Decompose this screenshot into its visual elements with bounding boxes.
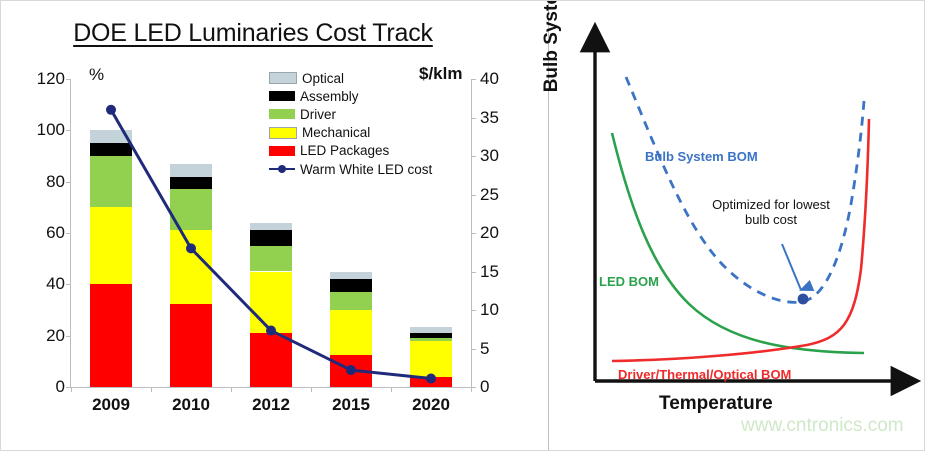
x-axis-tick-label-2010: 2010 <box>172 395 210 415</box>
y-axis-left-tick-label: 20 <box>46 326 65 346</box>
legend-label: Driver <box>300 107 336 122</box>
warm-white-led-cost-marker-2009 <box>106 105 116 115</box>
y-axis-left-tick-label: 100 <box>37 120 65 140</box>
legend-label: Mechanical <box>302 125 370 140</box>
callout-arrow <box>782 244 801 290</box>
legend-line-marker-icon <box>269 164 295 174</box>
y-axis-right-tickmark <box>471 195 476 196</box>
y-axis-left-tick-label: 60 <box>46 223 65 243</box>
y-axis-right-tickmark <box>471 156 476 157</box>
figure-root: DOE LED Luminaries Cost Track % $/klm 02… <box>0 0 925 451</box>
optimized-callout-label: Optimized for lowest bulb cost <box>701 197 841 228</box>
chart-title-text: DOE LED Luminaries Cost Track <box>73 19 433 47</box>
legend-item-optical[interactable]: Optical <box>269 69 432 87</box>
watermark: www.cntronics.com <box>741 415 904 437</box>
y-axis-right-tickmark <box>471 233 476 234</box>
y-axis-right-tick-label: 25 <box>480 185 499 205</box>
y-axis-left-tick-label: 80 <box>46 172 65 192</box>
legend-item-led-packages[interactable]: LED Packages <box>269 142 432 160</box>
y-axis-left-tick-label: 40 <box>46 274 65 294</box>
x-axis-tick-label-2009: 2009 <box>92 395 130 415</box>
bulb-system-bom-label: Bulb System BOM <box>645 149 758 164</box>
warm-white-led-cost-marker-2010 <box>186 243 196 253</box>
led-bom-label: LED BOM <box>599 274 659 289</box>
legend-swatch-icon <box>269 72 297 84</box>
y-axis-right-tick-label: 30 <box>480 146 499 166</box>
legend: OpticalAssemblyDriverMechanicalLED Packa… <box>269 69 432 178</box>
right-diagram-panel: Bulb System Cost Temperature <box>549 1 925 451</box>
y-axis-right-tick-label: 35 <box>480 108 499 128</box>
led-bom-curve <box>612 133 864 353</box>
legend-swatch-icon <box>269 109 295 119</box>
x-axis-line <box>71 387 472 388</box>
legend-item-mechanical[interactable]: Mechanical <box>269 124 432 142</box>
x-axis-tickmark <box>151 387 152 392</box>
legend-swatch-icon <box>269 91 295 101</box>
legend-label: Optical <box>302 71 344 86</box>
y-axis-left-tick-label: 0 <box>56 377 65 397</box>
x-axis-tickmark <box>311 387 312 392</box>
legend-item-driver[interactable]: Driver <box>269 105 432 123</box>
legend-item-warm-white-led-cost[interactable]: Warm White LED cost <box>269 160 432 178</box>
warm-white-led-cost-marker-2015 <box>346 365 356 375</box>
y-axis-right-tickmark <box>471 118 476 119</box>
y-axis-right-tickmark <box>471 349 476 350</box>
x-axis-tickmark <box>471 387 472 392</box>
y-axis-right-tick-label: 10 <box>480 300 499 320</box>
legend-swatch-icon <box>269 127 297 139</box>
warm-white-led-cost-marker-2012 <box>266 326 276 336</box>
driver-thermal-optical-bom-label: Driver/Thermal/Optical BOM <box>618 367 791 382</box>
warm-white-led-cost-marker-2020 <box>426 374 436 384</box>
y-axis-right-tick-label: 40 <box>480 69 499 89</box>
y-axis-right-tickmark <box>471 310 476 311</box>
y-axis-right-tick-label: 20 <box>480 223 499 243</box>
optimum-point-marker <box>798 294 809 305</box>
legend-item-assembly[interactable]: Assembly <box>269 87 432 105</box>
legend-swatch-icon <box>269 146 295 156</box>
x-axis-tickmark <box>231 387 232 392</box>
y-axis-right-tickmark <box>471 79 476 80</box>
y-axis-right-tick-label: 5 <box>480 339 489 359</box>
y-axis-right-tick-label: 0 <box>480 377 489 397</box>
x-axis-tickmark <box>71 387 72 392</box>
x-axis-tick-label-2020: 2020 <box>412 395 450 415</box>
legend-label: Assembly <box>300 89 359 104</box>
x-axis-tickmark <box>391 387 392 392</box>
legend-label: LED Packages <box>300 143 389 158</box>
y-axis-left-tick-label: 120 <box>37 69 65 89</box>
y-axis-right-tick-label: 15 <box>480 262 499 282</box>
x-axis-tick-label-2015: 2015 <box>332 395 370 415</box>
y-axis-right-tickmark <box>471 272 476 273</box>
chart-title: DOE LED Luminaries Cost Track <box>53 19 453 48</box>
left-chart-panel: DOE LED Luminaries Cost Track % $/klm 02… <box>1 1 548 451</box>
x-axis-tick-label-2012: 2012 <box>252 395 290 415</box>
legend-label: Warm White LED cost <box>300 162 432 177</box>
